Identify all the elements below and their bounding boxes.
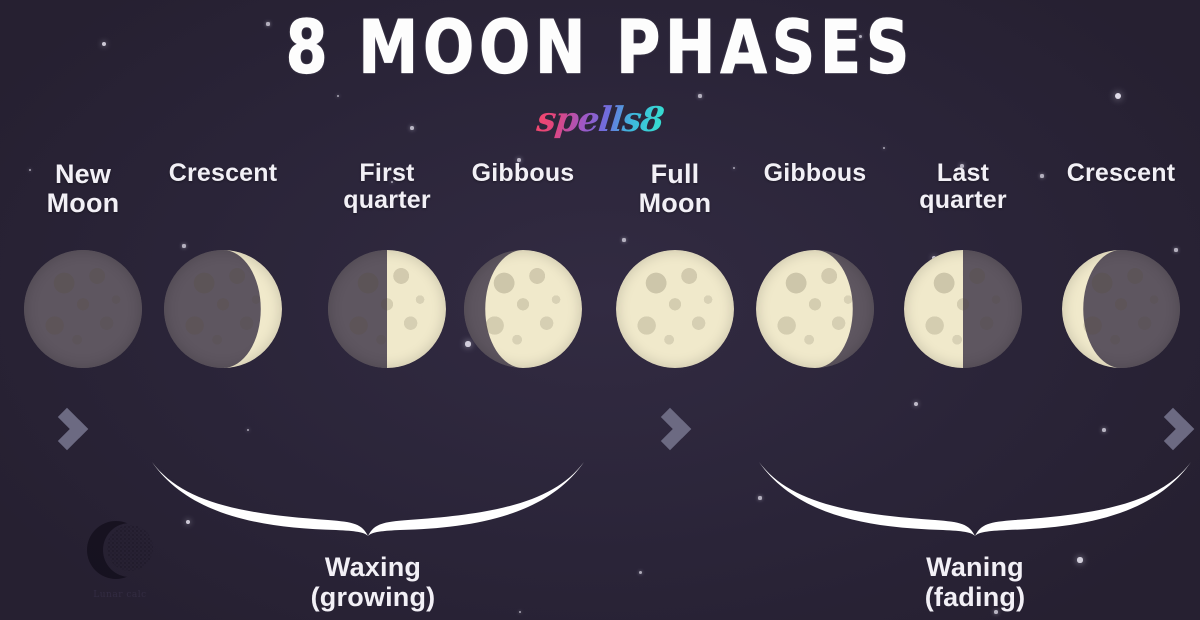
- crescent-moon-icon: [84, 518, 156, 584]
- phase-label-last-quarter: Last quarter: [888, 160, 1038, 214]
- phase-label-waxing-crescent: Crescent: [148, 160, 298, 187]
- phase-label-waning-crescent: Crescent: [1046, 160, 1196, 187]
- star-dot: [247, 429, 250, 432]
- moon-disc: [616, 250, 734, 368]
- page-title: 8 MOON PHASES: [0, 8, 1200, 90]
- star-dot: [883, 147, 886, 150]
- lit-area: [1062, 250, 1180, 368]
- star-dot: [698, 94, 701, 97]
- phase-waxing-crescent: Crescent: [148, 160, 298, 187]
- star-dot: [914, 402, 918, 406]
- moon-disc: [24, 250, 142, 368]
- infographic-canvas: 8 MOON PHASES spells8 New MoonCrescentFi…: [0, 0, 1200, 620]
- phase-last-quarter: Last quarter: [888, 160, 1038, 214]
- moon-graphic-first-quarter: [328, 250, 446, 368]
- phase-label-full-moon: Full Moon: [600, 160, 750, 218]
- lit-area: [328, 250, 446, 368]
- moon-graphic-last-quarter: [904, 250, 1022, 368]
- star-dot: [622, 238, 625, 241]
- lit-area: [904, 250, 1022, 368]
- moon-disc: [1062, 250, 1180, 368]
- lit-area: [464, 250, 582, 368]
- phase-label-first-quarter: First quarter: [312, 160, 462, 214]
- phase-waning-gibbous: Gibbous: [740, 160, 890, 187]
- waxing-caption: Waxing (growing): [258, 552, 488, 612]
- brand-logo: spells8: [0, 100, 1200, 140]
- moon-disc: [756, 250, 874, 368]
- star-dot: [519, 611, 522, 614]
- lunar-calc-watermark: Lunar calc: [78, 518, 162, 610]
- phase-new-moon: New Moon: [8, 160, 158, 218]
- waning-brace: [755, 458, 1195, 536]
- phase-waning-crescent: Crescent: [1046, 160, 1196, 187]
- star-dot: [1102, 428, 1106, 432]
- cycle-arrow-2: [649, 408, 691, 450]
- moon-disc: [164, 250, 282, 368]
- phase-first-quarter: First quarter: [312, 160, 462, 214]
- star-dot: [639, 571, 642, 574]
- waxing-brace: [148, 458, 588, 536]
- moon-disc: [904, 250, 1022, 368]
- star-dot: [1040, 174, 1043, 177]
- moon-disc: [464, 250, 582, 368]
- moon-graphic-waxing-crescent: [164, 250, 282, 368]
- star-dot: [337, 95, 340, 98]
- phase-label-waxing-gibbous: Gibbous: [448, 160, 598, 187]
- watermark-label: Lunar calc: [78, 590, 162, 600]
- cycle-arrow-1: [46, 408, 88, 450]
- moon-disc: [328, 250, 446, 368]
- moon-graphic-waning-gibbous: [756, 250, 874, 368]
- lit-area: [164, 250, 282, 368]
- phase-label-new-moon: New Moon: [8, 160, 158, 218]
- moon-graphic-new-moon: [24, 250, 142, 368]
- waning-caption: Waning (fading): [860, 552, 1090, 612]
- cycle-arrow-3: [1152, 408, 1194, 450]
- brand-logo-text: spells8: [535, 100, 665, 140]
- star-dot: [182, 244, 185, 247]
- moon-graphic-full-moon: [616, 250, 734, 368]
- star-dot: [1115, 93, 1121, 99]
- moon-graphic-waxing-gibbous: [464, 250, 582, 368]
- shadow-area: [24, 250, 142, 368]
- phase-label-waning-gibbous: Gibbous: [740, 160, 890, 187]
- moon-graphic-waning-crescent: [1062, 250, 1180, 368]
- phase-waxing-gibbous: Gibbous: [448, 160, 598, 187]
- lit-area: [616, 250, 734, 368]
- lit-area: [756, 250, 874, 368]
- phase-full-moon: Full Moon: [600, 160, 750, 218]
